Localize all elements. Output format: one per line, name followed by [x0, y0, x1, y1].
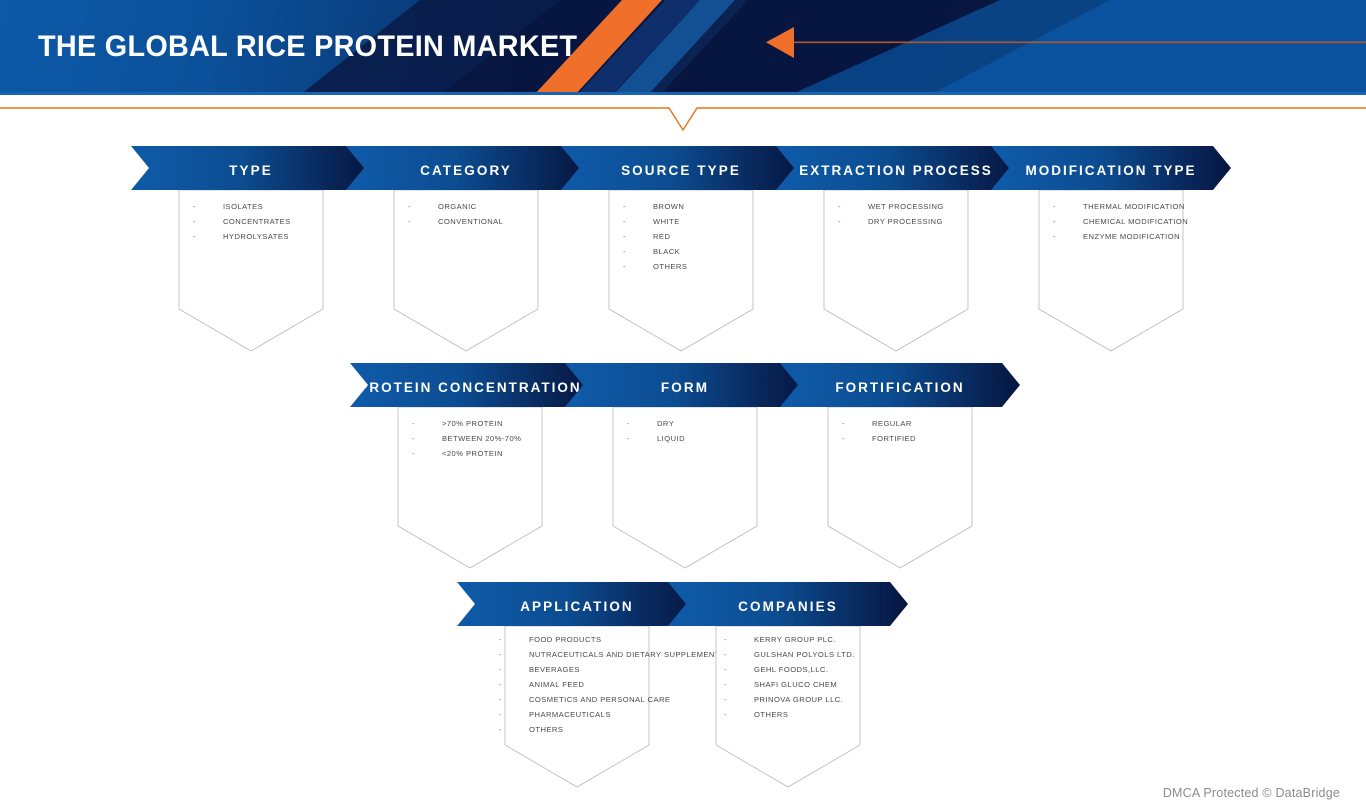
list-item: - KERRY GROUP PLC.: [754, 632, 855, 647]
list-item-label: RED: [653, 232, 670, 241]
bullet-dash: -: [499, 707, 502, 722]
card-title: TYPE: [131, 146, 371, 194]
list-item: - ISOLATES: [223, 199, 291, 214]
bullet-dash: -: [1053, 229, 1056, 244]
card-title: APPLICATION: [457, 582, 697, 630]
list-item-label: BETWEEN 20%-70%: [442, 434, 521, 443]
header-banner: THE GLOBAL RICE PROTEIN MARKET: [0, 0, 1366, 95]
list-item: - LIQUID: [657, 431, 685, 446]
bullet-dash: -: [724, 677, 727, 692]
card-modification-type[interactable]: MODIFICATION TYPE - THERMAL MODIFICATION…: [991, 142, 1231, 357]
list-item: - HYDROLYSATES: [223, 229, 291, 244]
card-fortification[interactable]: FORTIFICATION - REGULAR - FORTIFIED: [780, 359, 1020, 574]
card-form[interactable]: FORM - DRY - LIQUID: [565, 359, 805, 574]
bullet-dash: -: [499, 647, 502, 662]
list-item-label: FORTIFIED: [872, 434, 916, 443]
list-item: - WET PROCESSING: [868, 199, 944, 214]
list-item: - ENZYME MODIFICATION: [1083, 229, 1188, 244]
bullet-dash: -: [499, 677, 502, 692]
card-title: FORM: [565, 363, 805, 411]
card-source-type[interactable]: SOURCE TYPE - BROWN - WHITE - RED - BLAC…: [561, 142, 801, 357]
card-companies[interactable]: COMPANIES - KERRY GROUP PLC. - GULSHAN P…: [668, 578, 908, 793]
bullet-dash: -: [842, 431, 845, 446]
bullet-dash: -: [838, 199, 841, 214]
list-item-label: CHEMICAL MODIFICATION: [1083, 217, 1188, 226]
list-item: - OTHERS: [653, 259, 687, 274]
bullet-dash: -: [724, 707, 727, 722]
card-title: MODIFICATION TYPE: [991, 146, 1231, 194]
list-item: - BLACK: [653, 244, 687, 259]
bullet-dash: -: [499, 662, 502, 677]
list-item-label: KERRY GROUP PLC.: [754, 635, 836, 644]
bullet-dash: -: [724, 662, 727, 677]
card-title: COMPANIES: [668, 582, 908, 630]
card-item-list: - DRY - LIQUID: [657, 416, 685, 446]
list-item: - GEHL FOODS,LLC.: [754, 662, 855, 677]
bullet-dash: -: [627, 431, 630, 446]
bullet-dash: -: [724, 632, 727, 647]
list-item-label: REGULAR: [872, 419, 912, 428]
card-item-list: - BROWN - WHITE - RED - BLACK - OTHERS: [653, 199, 687, 274]
card-item-list: - KERRY GROUP PLC. - GULSHAN POLYOLS LTD…: [754, 632, 855, 722]
card-item-list: - >70% PROTEIN - BETWEEN 20%-70% - <20% …: [442, 416, 521, 461]
bullet-dash: -: [412, 446, 415, 461]
list-item: - BROWN: [653, 199, 687, 214]
bullet-dash: -: [838, 214, 841, 229]
bullet-dash: -: [623, 259, 626, 274]
card-title: CATEGORY: [346, 146, 586, 194]
list-item-label: ISOLATES: [223, 202, 263, 211]
card-title: PROTEIN CONCENTRATION: [350, 363, 590, 411]
list-item-label: GULSHAN POLYOLS LTD.: [754, 650, 855, 659]
list-item: - DRY: [657, 416, 685, 431]
bullet-dash: -: [623, 244, 626, 259]
list-item: - SHAFI GLUCO CHEM: [754, 677, 855, 692]
list-item-label: WET PROCESSING: [868, 202, 944, 211]
card-item-list: - THERMAL MODIFICATION - CHEMICAL MODIFI…: [1083, 199, 1188, 244]
list-item: - OTHERS: [754, 707, 855, 722]
bullet-dash: -: [193, 229, 196, 244]
list-item-label: OTHERS: [529, 725, 563, 734]
list-item: - CHEMICAL MODIFICATION: [1083, 214, 1188, 229]
bullet-dash: -: [499, 632, 502, 647]
list-item-label: CONVENTIONAL: [438, 217, 503, 226]
bullet-dash: -: [623, 214, 626, 229]
list-item: - DRY PROCESSING: [868, 214, 944, 229]
list-item-label: PRINOVA GROUP LLC.: [754, 695, 843, 704]
bullet-dash: -: [408, 199, 411, 214]
list-item: - <20% PROTEIN: [442, 446, 521, 461]
bullet-dash: -: [724, 647, 727, 662]
page-title: THE GLOBAL RICE PROTEIN MARKET: [38, 27, 577, 67]
bullet-dash: -: [193, 199, 196, 214]
card-item-list: - ISOLATES - CONCENTRATES - HYDROLYSATES: [223, 199, 291, 244]
list-item-label: BLACK: [653, 247, 680, 256]
list-item: - REGULAR: [872, 416, 916, 431]
list-item-label: LIQUID: [657, 434, 685, 443]
list-item-label: HYDROLYSATES: [223, 232, 289, 241]
list-item-label: >70% PROTEIN: [442, 419, 503, 428]
list-item-label: DRY PROCESSING: [868, 217, 943, 226]
list-item: - WHITE: [653, 214, 687, 229]
infographic-page: THE GLOBAL RICE PROTEIN MARKET TYPE - IS…: [0, 0, 1366, 808]
footer-copyright: DMCA Protected © DataBridge: [1163, 786, 1340, 800]
list-item: - THERMAL MODIFICATION: [1083, 199, 1188, 214]
list-item: - >70% PROTEIN: [442, 416, 521, 431]
bullet-dash: -: [193, 214, 196, 229]
card-category[interactable]: CATEGORY - ORGANIC - CONVENTIONAL: [346, 142, 586, 357]
bullet-dash: -: [623, 199, 626, 214]
list-item: - PRINOVA GROUP LLC.: [754, 692, 855, 707]
card-title: SOURCE TYPE: [561, 146, 801, 194]
card-title: FORTIFICATION: [780, 363, 1020, 411]
list-item-label: ENZYME MODIFICATION: [1083, 232, 1180, 241]
list-item-label: BEVERAGES: [529, 665, 580, 674]
card-title: EXTRACTION PROCESS: [776, 146, 1016, 194]
card-item-list: - REGULAR - FORTIFIED: [872, 416, 916, 446]
list-item: - ORGANIC: [438, 199, 503, 214]
card-item-list: - ORGANIC - CONVENTIONAL: [438, 199, 503, 229]
list-item-label: SHAFI GLUCO CHEM: [754, 680, 837, 689]
bullet-dash: -: [724, 692, 727, 707]
bullet-dash: -: [412, 431, 415, 446]
list-item-label: FOOD PRODUCTS: [529, 635, 602, 644]
bullet-dash: -: [499, 692, 502, 707]
bullet-dash: -: [842, 416, 845, 431]
list-item: - FORTIFIED: [872, 431, 916, 446]
list-item-label: DRY: [657, 419, 674, 428]
header-bottom-line: [0, 92, 1366, 95]
bullet-dash: -: [412, 416, 415, 431]
list-item-label: ORGANIC: [438, 202, 477, 211]
bullet-dash: -: [627, 416, 630, 431]
card-application[interactable]: APPLICATION - FOOD PRODUCTS - NUTRACEUTI…: [457, 578, 697, 793]
card-item-list: - WET PROCESSING - DRY PROCESSING: [868, 199, 944, 229]
list-item-label: COSMETICS AND PERSONAL CARE: [529, 695, 670, 704]
card-extraction-process[interactable]: EXTRACTION PROCESS - WET PROCESSING - DR…: [776, 142, 1016, 357]
list-item-label: OTHERS: [754, 710, 788, 719]
bullet-dash: -: [499, 722, 502, 737]
list-item: - CONCENTRATES: [223, 214, 291, 229]
list-item-label: CONCENTRATES: [223, 217, 291, 226]
list-item-label: THERMAL MODIFICATION: [1083, 202, 1185, 211]
list-item-label: PHARMACEUTICALS: [529, 710, 611, 719]
list-item-label: <20% PROTEIN: [442, 449, 503, 458]
list-item: - RED: [653, 229, 687, 244]
list-item-label: WHITE: [653, 217, 680, 226]
list-item-label: BROWN: [653, 202, 684, 211]
list-item: - GULSHAN POLYOLS LTD.: [754, 647, 855, 662]
list-item-label: GEHL FOODS,LLC.: [754, 665, 828, 674]
card-protein-concentration[interactable]: PROTEIN CONCENTRATION - >70% PROTEIN - B…: [350, 359, 590, 574]
list-item-label: ANIMAL FEED: [529, 680, 584, 689]
divider-line: [0, 100, 1366, 136]
list-item: - BETWEEN 20%-70%: [442, 431, 521, 446]
list-item-label: OTHERS: [653, 262, 687, 271]
list-item: - CONVENTIONAL: [438, 214, 503, 229]
bullet-dash: -: [623, 229, 626, 244]
header-arrow-line: [790, 42, 1366, 44]
bullet-dash: -: [1053, 214, 1056, 229]
bullet-dash: -: [408, 214, 411, 229]
card-type[interactable]: TYPE - ISOLATES - CONCENTRATES - HYDROLY…: [131, 142, 371, 357]
divider-v-notch: [0, 108, 1366, 130]
bullet-dash: -: [1053, 199, 1056, 214]
